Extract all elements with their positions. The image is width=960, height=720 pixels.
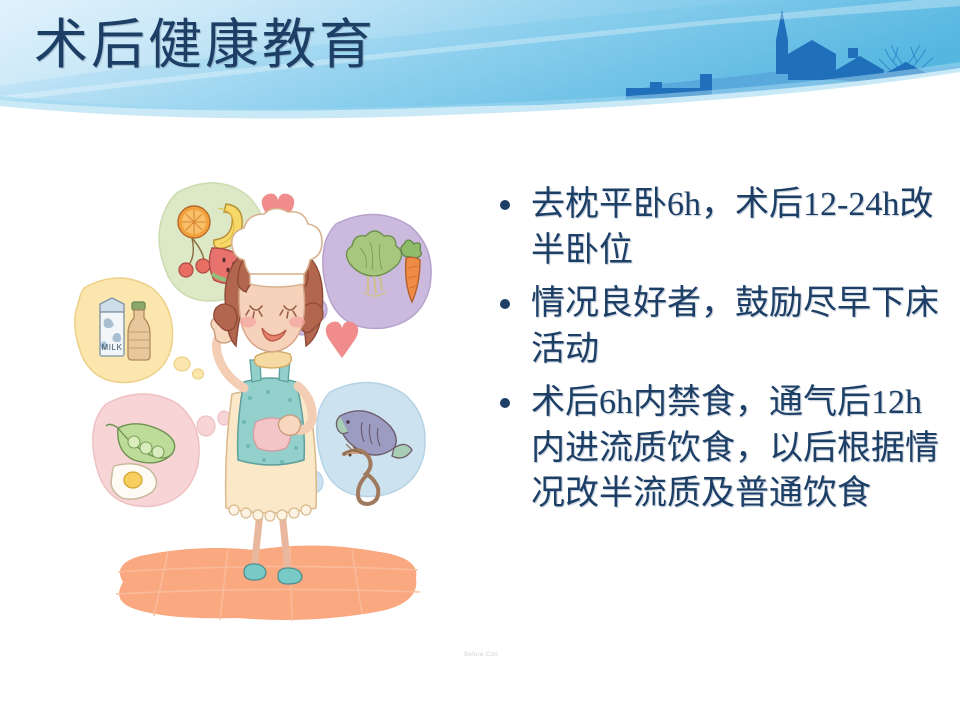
page-title: 术后健康教育 [34, 17, 376, 74]
illustration-graphic: MILK [68, 160, 468, 660]
bullet-text: 术后6h内禁食，通气后12h内进流质饮食，以后根据情况改半流质及普通饮食 [531, 380, 950, 517]
fried-egg-icon [111, 464, 156, 499]
illustration-healthy-eating: MILK [68, 160, 468, 660]
list-item: 情况良好者，鼓励尽早下床活动 [500, 281, 950, 372]
image-watermark: Before-Con [455, 652, 507, 658]
orange-slice-icon [178, 206, 210, 238]
bubble-tail-dot [193, 369, 204, 379]
bullet-text: 去枕平卧6h，术后12-24h改半卧位 [531, 182, 950, 273]
bubble-tail-dot [197, 416, 215, 436]
neck-scarf [254, 351, 291, 368]
bullet-list: 去枕平卧6h，术后12-24h改半卧位 情况良好者，鼓励尽早下床活动 术后6h内… [500, 182, 950, 525]
list-item: 术后6h内禁食，通气后12h内进流质饮食，以后根据情况改半流质及普通饮食 [500, 380, 950, 517]
bullet-dot-icon [500, 299, 510, 309]
bullet-text: 情况良好者，鼓励尽早下床活动 [531, 281, 950, 372]
protein-bubble [93, 394, 230, 506]
list-item: 去枕平卧6h，术后12-24h改半卧位 [500, 182, 950, 273]
heart-icon [326, 322, 359, 358]
slide-header-banner: 术后健康教育 [0, 0, 960, 126]
slide: 术后健康教育 [0, 0, 960, 720]
svg-text:MILK: MILK [101, 343, 122, 352]
bullet-dot-icon [500, 200, 510, 210]
floor-mat [116, 545, 420, 621]
bubble-tail-dot [174, 357, 190, 371]
milk-carton-icon: MILK [100, 298, 124, 356]
bullet-dot-icon [500, 398, 510, 408]
